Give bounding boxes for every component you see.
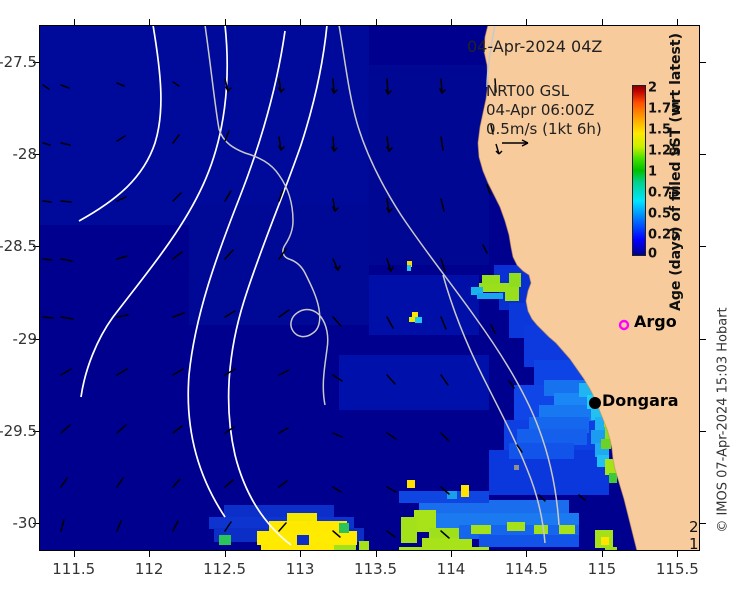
colorbar-tick-8: 0: [648, 247, 657, 262]
x-tick-mark-top: [74, 19, 75, 25]
x-tick-label-2: 112.5: [203, 560, 246, 578]
y-tick-mark-right: [700, 431, 706, 432]
x-tick-mark-top: [225, 19, 226, 25]
colorbar-title: Age (days) of filled SST (wrt latest): [668, 33, 684, 311]
current-scale-label: 0.5m/s (1kt 6h): [486, 120, 602, 138]
x-tick-mark: [149, 551, 150, 557]
dongara-marker-icon[interactable]: [588, 396, 602, 410]
x-tick-label-0: 111.5: [52, 560, 95, 578]
x-tick-label-8: 115.5: [656, 560, 699, 578]
y-tick-mark-right: [700, 154, 706, 155]
argo-marker-icon[interactable]: [617, 318, 631, 332]
x-tick-mark: [74, 551, 75, 557]
x-tick-mark-top: [376, 19, 377, 25]
y-tick-label-5: -30: [13, 514, 38, 532]
x-tick-mark-top: [451, 19, 452, 25]
x-tick-mark-top: [602, 19, 603, 25]
x-tick-mark-top: [677, 19, 678, 25]
y-tick-mark-right: [700, 246, 706, 247]
x-tick-mark-top: [300, 19, 301, 25]
colorbar-tick-0: 2: [648, 81, 657, 96]
colorbar-tick-4: 1: [648, 165, 657, 180]
x-tick-mark: [677, 551, 678, 557]
x-tick-label-5: 114: [437, 560, 466, 578]
depth-1000m-label: 1000m: [689, 536, 700, 551]
x-tick-mark: [451, 551, 452, 557]
depth-contour-legend: 200m 1000m: [689, 519, 700, 551]
x-tick-mark: [300, 551, 301, 557]
reference-arrow-icon: [501, 137, 535, 149]
y-tick-mark-right: [700, 62, 706, 63]
x-tick-mark: [526, 551, 527, 557]
figure-root: 04-Apr-2024 04Z NRT00 GSL 04-Apr 06:00Z …: [0, 0, 740, 592]
current-time-label: 04-Apr 06:00Z: [486, 101, 594, 119]
date-stamp: 04-Apr-2024 04Z: [467, 37, 602, 56]
y-tick-label-1: -28: [13, 145, 38, 163]
x-tick-mark-top: [149, 19, 150, 25]
map-plot-area[interactable]: 04-Apr-2024 04Z NRT00 GSL 04-Apr 06:00Z …: [39, 25, 700, 551]
x-tick-mark: [225, 551, 226, 557]
depth-200m-label: 200m: [689, 519, 700, 536]
argo-legend-label: Argo: [634, 312, 677, 331]
y-tick-mark-right: [700, 339, 706, 340]
x-tick-label-4: 113.5: [354, 560, 397, 578]
y-tick-mark-right: [700, 523, 706, 524]
x-tick-mark-top: [526, 19, 527, 25]
colorbar-gradient: [632, 85, 646, 256]
x-tick-label-3: 113: [286, 560, 315, 578]
y-tick-label-0: -27.5: [0, 53, 37, 71]
x-tick-mark: [376, 551, 377, 557]
y-tick-label-2: -28.5: [0, 237, 37, 255]
x-tick-label-7: 115: [588, 560, 617, 578]
x-tick-label-1: 112: [135, 560, 164, 578]
current-source-label: NRT00 GSL: [486, 82, 569, 100]
dongara-label: Dongara: [602, 391, 679, 410]
x-tick-mark: [602, 551, 603, 557]
credit-text: © IMOS 07-Apr-2024 15:03 Hobart: [716, 307, 731, 532]
map-canvas: [39, 25, 700, 551]
y-tick-label-4: -29.5: [0, 422, 37, 440]
x-tick-label-6: 114.5: [505, 560, 548, 578]
y-tick-label-3: -29: [13, 330, 38, 348]
